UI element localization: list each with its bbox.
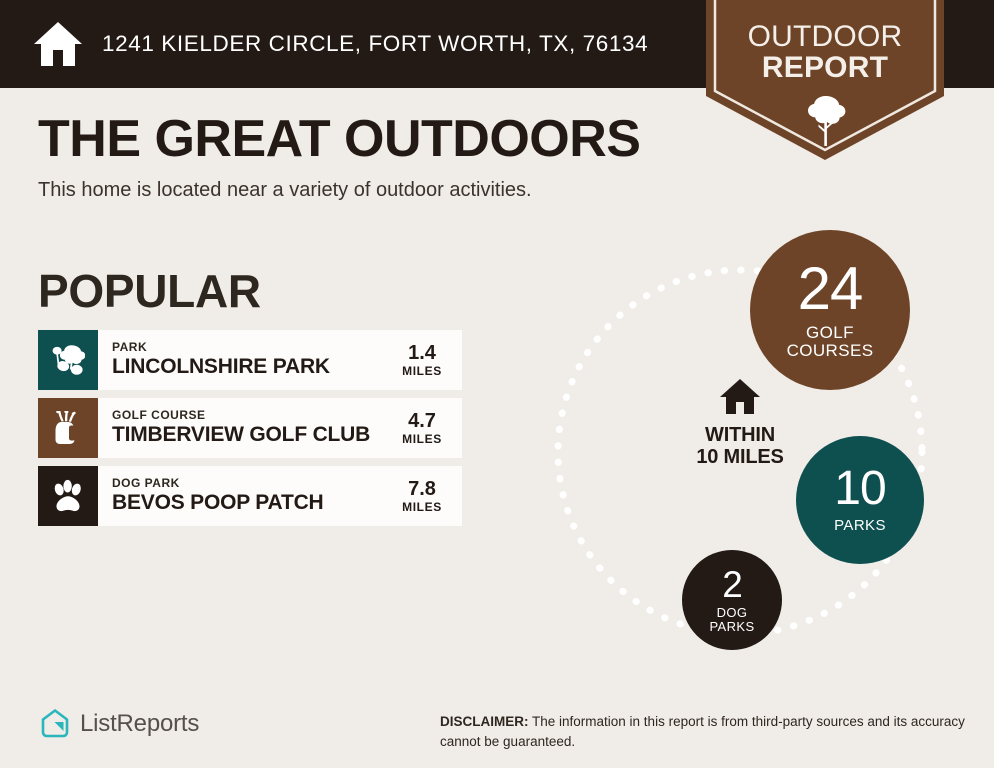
diagram-center: WITHIN 10 MILES — [656, 378, 824, 469]
distance-unit: MILES — [402, 364, 442, 378]
distance-unit: MILES — [402, 500, 442, 514]
distance-unit: MILES — [402, 432, 442, 446]
stat-value: 10 — [834, 466, 885, 512]
stat-label: DOG PARKS — [709, 606, 754, 633]
golf-bag-icon — [52, 411, 84, 445]
within-radius-label: WITHIN 10 MILES — [656, 424, 824, 469]
stat-bubble-dog-parks: 2 DOG PARKS — [682, 550, 782, 650]
disclaimer-label: DISCLAIMER: — [440, 714, 529, 729]
list-item[interactable]: DOG PARK BEVOS POOP PATCH 7.8 MILES — [38, 466, 462, 526]
item-name: LINCOLNSHIRE PARK — [112, 355, 388, 379]
item-distance: 4.7 MILES — [388, 398, 462, 458]
home-icon — [32, 20, 84, 68]
outdoor-report-badge: OUTDOOR REPORT — [706, 0, 944, 160]
stat-bubble-golf-courses: 24 GOLF COURSES — [750, 230, 910, 390]
listreports-wordmark: ListReports — [80, 710, 199, 738]
listreports-house-tag-icon — [40, 708, 70, 740]
item-category: GOLF COURSE — [112, 409, 388, 422]
golf-tile — [38, 398, 98, 458]
popular-heading: POPULAR — [38, 264, 261, 318]
page-title: THE GREAT OUTDOORS — [38, 112, 640, 167]
item-name: BEVOS POOP PATCH — [112, 491, 388, 515]
distance-value: 1.4 — [408, 342, 436, 364]
distance-value: 4.7 — [408, 410, 436, 432]
listreports-logo[interactable]: ListReports — [40, 708, 199, 740]
golf-text: GOLF COURSE TIMBERVIEW GOLF CLUB — [98, 398, 388, 458]
home-icon — [719, 378, 761, 416]
park-trees-icon — [51, 344, 85, 376]
item-name: TIMBERVIEW GOLF CLUB — [112, 423, 388, 447]
dog-park-tile — [38, 466, 98, 526]
list-item[interactable]: PARK LINCOLNSHIRE PARK 1.4 MILES — [38, 330, 462, 390]
popular-list: PARK LINCOLNSHIRE PARK 1.4 MILES GOLF CO… — [38, 330, 462, 534]
stat-value: 2 — [722, 567, 742, 602]
list-item[interactable]: GOLF COURSE TIMBERVIEW GOLF CLUB 4.7 MIL… — [38, 398, 462, 458]
badge-shape — [706, 0, 944, 160]
paw-print-icon — [51, 479, 85, 513]
item-distance: 1.4 MILES — [388, 330, 462, 390]
title-block: THE GREAT OUTDOORS This home is located … — [38, 112, 640, 202]
item-distance: 7.8 MILES — [388, 466, 462, 526]
park-tile — [38, 330, 98, 390]
item-category: DOG PARK — [112, 477, 388, 490]
park-text: PARK LINCOLNSHIRE PARK — [98, 330, 388, 390]
disclaimer: DISCLAIMER: The information in this repo… — [440, 712, 970, 751]
stat-value: 24 — [798, 260, 863, 317]
page-subtitle: This home is located near a variety of o… — [38, 179, 640, 202]
item-category: PARK — [112, 341, 388, 354]
amenities-diagram: 24 GOLF COURSES 10 PARKS 2 DOG PARKS WIT… — [540, 230, 980, 670]
distance-value: 7.8 — [408, 478, 436, 500]
property-address: 1241 KIELDER CIRCLE, FORT WORTH, TX, 761… — [102, 31, 648, 57]
stat-label: PARKS — [834, 518, 886, 534]
stat-label: GOLF COURSES — [787, 324, 874, 360]
dog-park-text: DOG PARK BEVOS POOP PATCH — [98, 466, 388, 526]
